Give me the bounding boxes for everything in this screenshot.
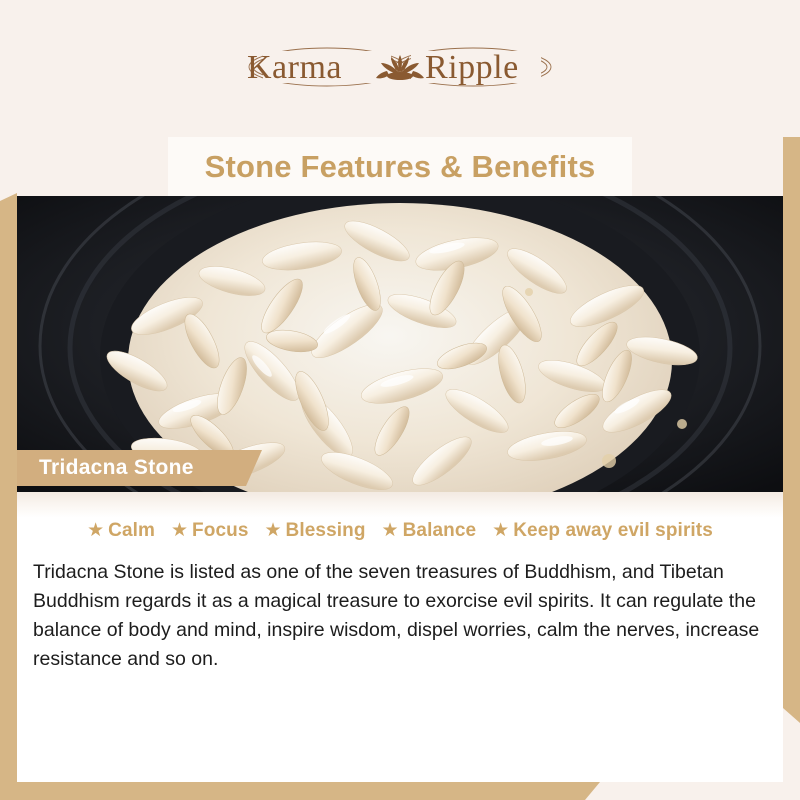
product-photo-illustration <box>17 196 783 492</box>
benefit-label: Keep away evil spirits <box>513 520 713 542</box>
frame-bottom-accent <box>0 782 800 800</box>
brand-name-left: Karma <box>247 49 342 86</box>
product-photo <box>17 196 783 492</box>
frame-left-accent <box>0 193 17 800</box>
section-title-banner: Stone Features & Benefits <box>168 137 632 196</box>
benefit-item-calm: ★ Calm <box>87 520 155 542</box>
benefit-item-focus: ★ Focus <box>171 520 249 542</box>
benefit-label: Blessing <box>286 520 366 542</box>
star-icon: ★ <box>265 521 282 540</box>
benefit-label: Focus <box>192 520 248 542</box>
product-infographic-page: Karma Ripple Stone Features & Benefits <box>0 0 800 800</box>
benefit-label: Calm <box>108 520 155 542</box>
benefit-item-blessing: ★ Blessing <box>265 520 366 542</box>
stone-name-text: Tridacna Stone <box>39 456 194 480</box>
page-title: Stone Features & Benefits <box>205 149 596 185</box>
content-top-fade <box>17 492 783 518</box>
page-header: Karma Ripple <box>0 0 800 137</box>
benefit-item-keep-away-evil-spirits: ★ Keep away evil spirits <box>492 520 713 542</box>
brand-name-right: Ripple <box>425 49 519 86</box>
content-panel: ★ Calm ★ Focus ★ Blessing ★ Balance ★ Ke… <box>17 492 783 782</box>
benefits-list: ★ Calm ★ Focus ★ Blessing ★ Balance ★ Ke… <box>17 520 783 542</box>
star-icon: ★ <box>87 521 104 540</box>
stone-name-label: Tridacna Stone <box>17 450 262 486</box>
logo-svg: Karma Ripple <box>235 38 565 96</box>
stone-description: Tridacna Stone is listed as one of the s… <box>33 558 769 674</box>
brand-logo: Karma Ripple <box>0 38 800 96</box>
star-icon: ★ <box>171 521 188 540</box>
star-icon: ★ <box>382 521 399 540</box>
benefit-item-balance: ★ Balance <box>382 520 477 542</box>
benefit-label: Balance <box>403 520 477 542</box>
star-icon: ★ <box>492 521 509 540</box>
